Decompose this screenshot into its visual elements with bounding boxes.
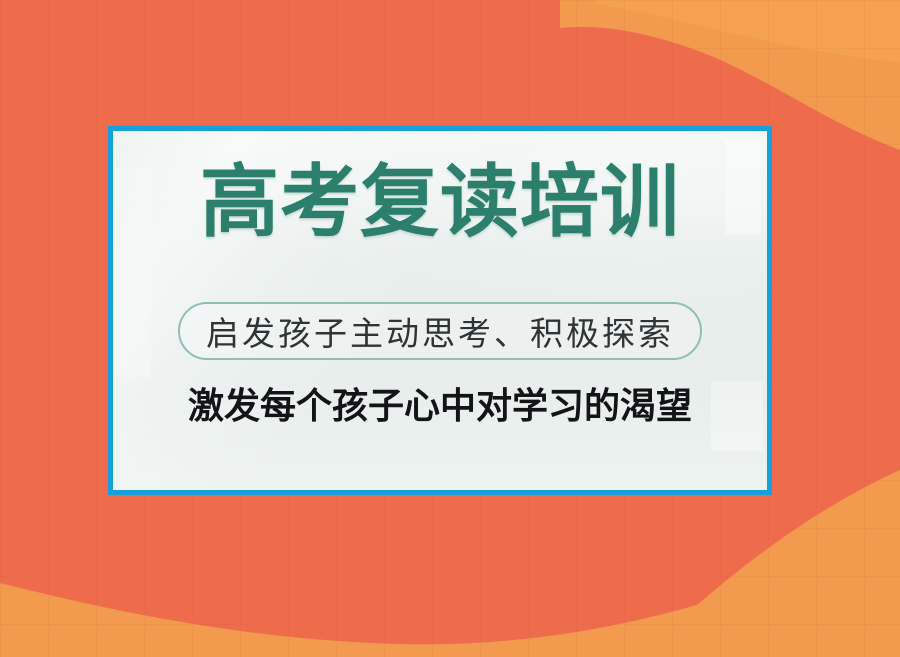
- subtitle-text: 激发每个孩子心中对学习的渴望: [113, 389, 767, 425]
- wave-bottom-right-wedge: [640, 470, 900, 657]
- tagline-pill: 启发孩子主动思考、积极探索: [178, 302, 702, 360]
- tagline-pill-container: 启发孩子主动思考、积极探索: [113, 302, 767, 360]
- page-title: 高考复读培训: [113, 163, 767, 242]
- content-card: 高考复读培训 启发孩子主动思考、积极探索 激发每个孩子心中对学习的渴望: [108, 126, 772, 495]
- card-content: 高考复读培训 启发孩子主动思考、积极探索 激发每个孩子心中对学习的渴望: [113, 131, 767, 490]
- poster-canvas: 高考复读培训 启发孩子主动思考、积极探索 激发每个孩子心中对学习的渴望: [0, 0, 900, 657]
